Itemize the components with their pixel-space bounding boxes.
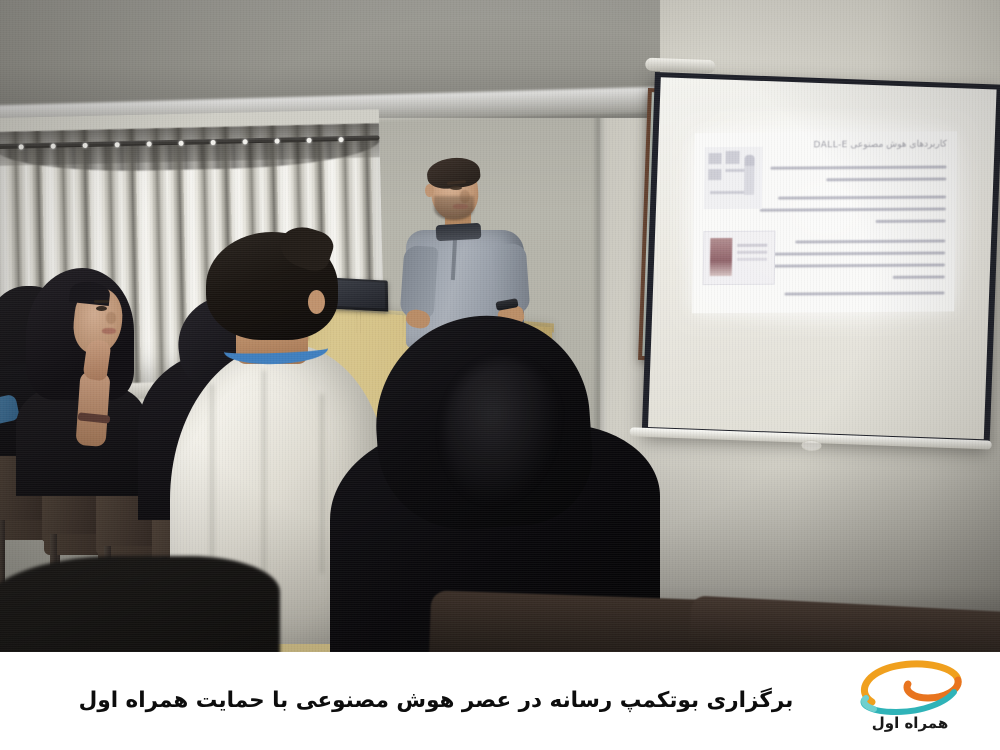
mci-logo: همراه اول xyxy=(844,654,976,746)
presenter-eye xyxy=(450,186,462,190)
caption-text: برگزاری بوتکمپ رسانه در عصر هوش مصنوعی ب… xyxy=(40,652,832,750)
pull-down-projection-screen: کاربردهای هوش مصنوعی DALL-E xyxy=(641,72,1000,455)
presenter-mouth xyxy=(453,204,468,209)
forearm xyxy=(75,371,110,447)
presenter-ear xyxy=(425,184,434,197)
lips xyxy=(102,328,116,334)
eyebrow xyxy=(94,300,109,303)
ear xyxy=(308,290,325,314)
foreground-shadow xyxy=(0,556,280,652)
nose xyxy=(106,312,116,324)
news-photo-card: کاربردهای هوش مصنوعی DALL-E xyxy=(0,0,1000,750)
fabric-sheen xyxy=(444,360,564,510)
eye xyxy=(96,306,107,311)
mci-swoosh-icon xyxy=(852,658,968,718)
mci-wordmark: همراه اول xyxy=(844,714,976,732)
presenter-left-sleeve xyxy=(400,245,439,319)
event-photo: کاربردهای هوش مصنوعی DALL-E xyxy=(0,0,1000,652)
projected-slide: کاربردهای هوش مصنوعی DALL-E xyxy=(692,131,957,313)
screen-roller-housing xyxy=(645,58,715,74)
presenter-nose xyxy=(460,190,470,203)
slide-thumbnail-illustration xyxy=(704,147,763,209)
slide-title: کاربردهای هوش مصنوعی DALL-E xyxy=(747,139,947,150)
slide-thumbnail-poster xyxy=(703,231,776,285)
presenter-collar xyxy=(436,223,482,241)
